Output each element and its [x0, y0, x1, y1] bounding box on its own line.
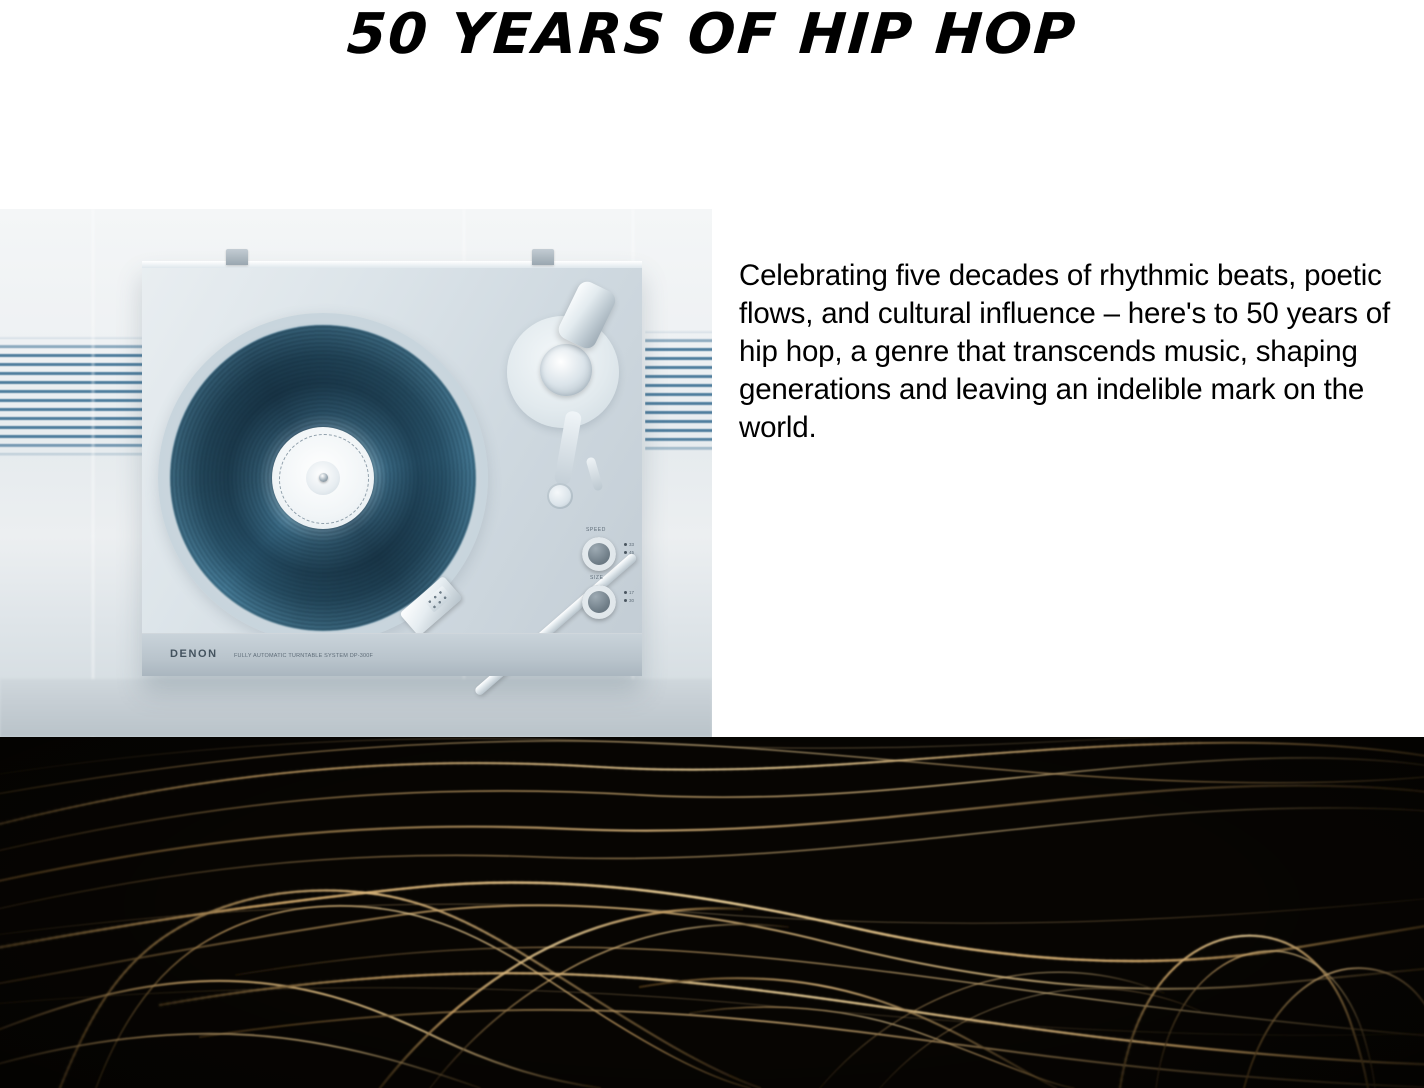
power-button: [547, 483, 573, 509]
speed-knob-options: 33 45: [624, 541, 634, 557]
wall-vent-stripes-left: [0, 336, 148, 458]
size-option-value: 30: [629, 598, 634, 603]
speed-option-value: 33: [629, 542, 634, 547]
wall-seam-line: [92, 209, 94, 737]
turntable-photo: SPEED 33 45 SIZE 17 30 DENON FULLY AUTOM…: [0, 209, 712, 737]
speed-knob: [582, 537, 616, 571]
page-title: 50 YEARS OF HIP HOP: [0, 6, 1424, 65]
dust-cover-hinge: [226, 249, 248, 265]
denon-brand-label: DENON: [170, 648, 218, 660]
size-knob-options: 17 30: [624, 589, 634, 605]
floor-surface: [0, 679, 712, 737]
size-knob: [582, 585, 616, 619]
turntable-plinth: SPEED 33 45 SIZE 17 30 DENON FULLY AUTOM…: [142, 261, 642, 676]
dust-cover-hinge: [532, 249, 554, 265]
speed-knob-label: SPEED: [586, 527, 606, 533]
record-spindle: [319, 473, 328, 482]
size-option-value: 17: [629, 590, 634, 595]
wall-vent-stripes-right: [645, 330, 712, 456]
tonearm-pivot: [540, 344, 592, 396]
light-trails-photo: [0, 737, 1424, 1088]
tonearm-lift-lever: [585, 456, 603, 491]
speed-option-value: 45: [629, 550, 634, 555]
body-paragraph: Celebrating five decades of rhythmic bea…: [739, 257, 1399, 447]
size-knob-label: SIZE: [590, 575, 604, 581]
turntable-model-label: FULLY AUTOMATIC TURNTABLE SYSTEM DP-300F: [234, 653, 373, 659]
light-trails-graphic: [0, 737, 1424, 1088]
plinth-top-edge: [142, 261, 642, 268]
